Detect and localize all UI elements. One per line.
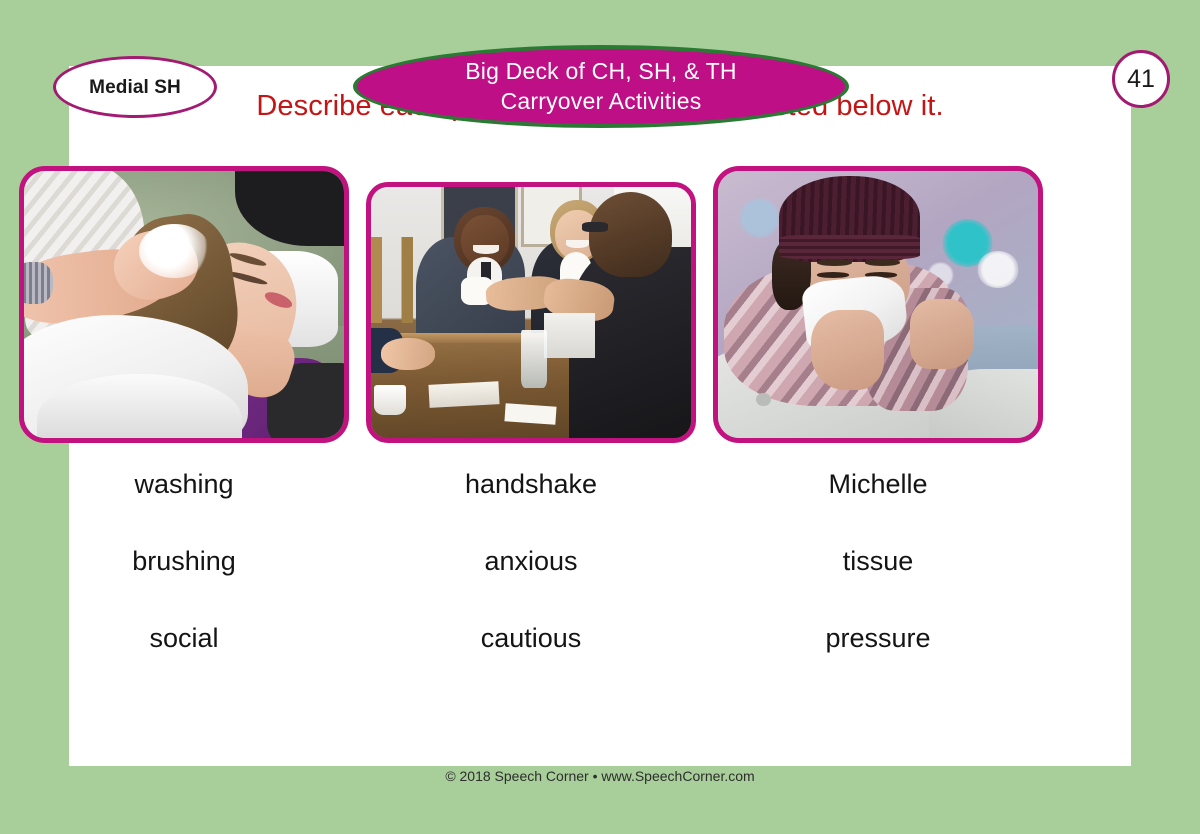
word-list-1: washing brushing social: [19, 471, 349, 652]
word-item: washing: [19, 471, 349, 498]
title-badge: Big Deck of CH, SH, & TH Carryover Activ…: [353, 45, 849, 128]
footer-copyright: © 2018 Speech Corner • www.SpeechCorner.…: [0, 768, 1200, 784]
word-item: social: [19, 625, 349, 652]
picture-card-1: washing brushing social: [19, 166, 349, 652]
word-item: Michelle: [713, 471, 1043, 498]
word-item: handshake: [366, 471, 696, 498]
word-item: cautious: [366, 625, 696, 652]
word-list-2: handshake anxious cautious: [366, 471, 696, 652]
word-list-3: Michelle tissue pressure: [713, 471, 1043, 652]
title-line-2: Carryover Activities: [501, 87, 702, 116]
photo-hair-washing: [19, 166, 349, 443]
category-label: Medial SH: [89, 78, 181, 97]
word-item: anxious: [366, 548, 696, 575]
word-item: pressure: [713, 625, 1043, 652]
photo-business-handshake-image: [371, 187, 691, 438]
photo-hair-washing-image: [24, 171, 344, 438]
picture-row: washing brushing social handsh: [19, 166, 1043, 652]
photo-business-handshake: [366, 182, 696, 443]
category-badge: Medial SH: [53, 56, 217, 118]
page-number-badge: 41: [1112, 50, 1170, 108]
word-item: tissue: [713, 548, 1043, 575]
title-line-1: Big Deck of CH, SH, & TH: [465, 57, 737, 86]
picture-card-2: handshake anxious cautious: [366, 166, 696, 652]
picture-card-3: Michelle tissue pressure: [713, 166, 1043, 652]
page-number: 41: [1127, 67, 1155, 92]
photo-blowing-nose-image: [718, 171, 1038, 438]
photo-blowing-nose: [713, 166, 1043, 443]
word-item: brushing: [19, 548, 349, 575]
